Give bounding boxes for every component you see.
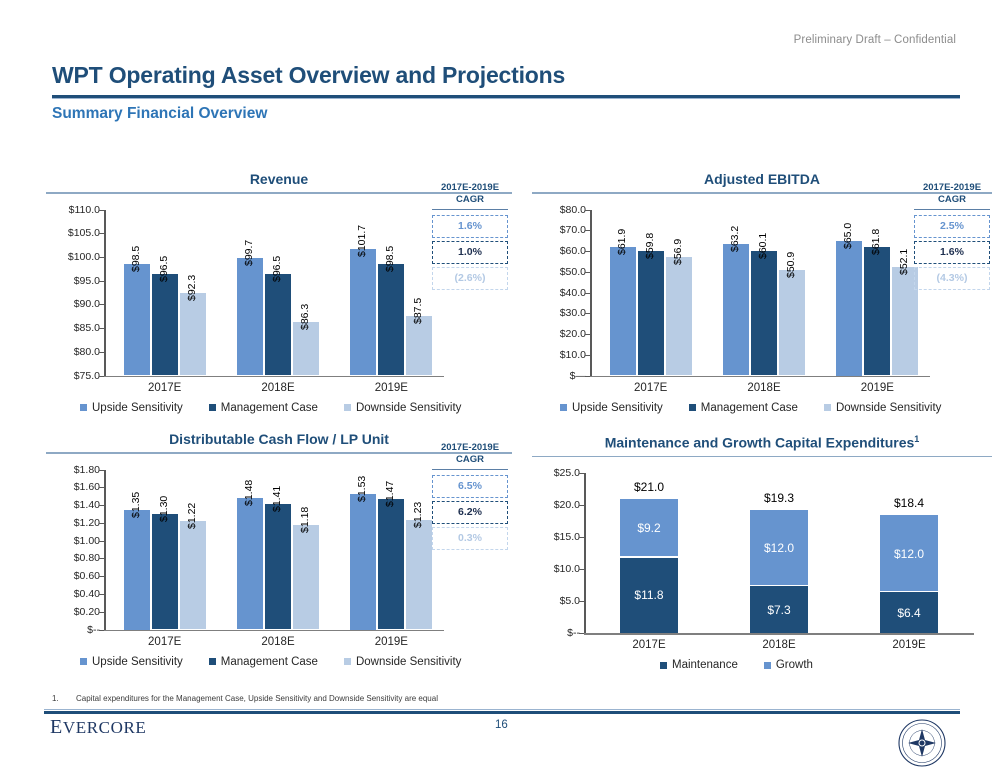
- plot-area-revenue: $110.0$105.0$100.0$95.0$90.0$85.0$80.0$7…: [46, 194, 512, 404]
- bar-dcf-2017E-management-case: [152, 514, 178, 630]
- bar-revenue-2018E-upside-sensitivity: [237, 258, 263, 375]
- legend-item-downside[interactable]: Downside Sensitivity: [824, 402, 941, 414]
- cagr-heading: 2017E-2019ECAGR: [432, 182, 508, 206]
- bar-value-label: $1.47: [384, 481, 396, 507]
- cagr-value-upside: 1.6%: [432, 215, 508, 238]
- y-axis-tick-label: $100.0: [68, 251, 100, 263]
- cagr-value-downside: 0.3%: [432, 527, 508, 550]
- legend-swatch-icon: [80, 404, 87, 411]
- bar-ebitda-2018E-upside-sensitivity: [723, 244, 749, 375]
- y-axis-tick-label: $75.0: [74, 370, 100, 382]
- bar-dcf-2017E-downside-sensitivity: [180, 521, 206, 629]
- cagr-divider: [432, 469, 508, 470]
- y-axis-tick-label: $0.80: [74, 552, 100, 564]
- legend-item-upside[interactable]: Upside Sensitivity: [80, 656, 183, 668]
- y-axis-tick-label: $30.0: [560, 307, 586, 319]
- bar-value-label: $1.18: [299, 506, 311, 532]
- page-number: 16: [495, 719, 508, 731]
- bar-value-label: $101.7: [356, 225, 368, 257]
- page-subtitle: Summary Financial Overview: [52, 105, 267, 123]
- y-axis-line: [104, 470, 106, 630]
- bar-value-label: $1.35: [130, 491, 142, 517]
- legend-swatch-icon: [209, 658, 216, 665]
- bar-dcf-2018E-upside-sensitivity: [237, 498, 263, 630]
- x-axis-line: [104, 630, 444, 632]
- bar-value-label: $92.3: [186, 275, 198, 301]
- chart-legend: Upside SensitivityManagement CaseDownsid…: [80, 402, 461, 414]
- cagr-heading-metric: CAGR: [432, 194, 508, 206]
- legend-label: Downside Sensitivity: [356, 656, 461, 668]
- page-title: WPT Operating Asset Overview and Project…: [52, 62, 565, 89]
- bar-value-label: $87.5: [412, 298, 424, 324]
- cagr-panel: 2017E-2019ECAGR1.6%1.0%(2.6%): [432, 182, 508, 293]
- bar-value-label: $99.7: [243, 240, 255, 266]
- cagr-heading: 2017E-2019ECAGR: [432, 442, 508, 466]
- plot-area-distributable-cash-flow: $1.80$1.60$1.40$1.20$1.00$0.80$0.60$0.40…: [46, 454, 512, 654]
- bar-ebitda-2018E-management-case: [751, 251, 777, 376]
- chart-capital-expenditures: Maintenance and Growth Capital Expenditu…: [532, 430, 992, 680]
- bar-ebitda-2017E-management-case: [638, 251, 664, 375]
- chart-title-text: Maintenance and Growth Capital Expenditu…: [605, 435, 915, 451]
- footnote-number: 1.: [52, 694, 62, 703]
- x-axis-category-label: 2017E: [634, 382, 667, 394]
- bar-value-label: $50.9: [785, 252, 797, 278]
- x-axis-line: [104, 376, 444, 378]
- bar-value-label: $60.1: [757, 233, 769, 259]
- cagr-panel: 2017E-2019ECAGR6.5%6.2%0.3%: [432, 442, 508, 553]
- x-axis-category-label: 2018E: [261, 382, 294, 394]
- x-axis-category-label: 2019E: [892, 639, 925, 651]
- bar-ebitda-2017E-downside-sensitivity: [666, 257, 692, 375]
- y-axis-tick-label: $80.0: [560, 204, 586, 216]
- stack-total-label: $19.3: [764, 491, 794, 505]
- x-axis-line: [590, 376, 930, 378]
- stack-total-label: $21.0: [634, 480, 664, 494]
- x-axis-category-label: 2018E: [747, 382, 780, 394]
- y-axis-tick-label: $5.0: [560, 595, 580, 607]
- slide: Preliminary Draft – Confidential WPT Ope…: [0, 0, 1000, 774]
- legend-label: Maintenance: [672, 659, 738, 671]
- cagr-heading-metric: CAGR: [432, 454, 508, 466]
- y-axis-tick-label: $40.0: [560, 287, 586, 299]
- chart-legend: MaintenanceGrowth: [660, 659, 813, 671]
- plot-area-adjusted-ebitda: $80.0$70.0$60.0$50.0$40.0$30.0$20.0$10.0…: [532, 194, 992, 404]
- y-axis-tick-label: $95.0: [74, 275, 100, 287]
- bar-dcf-2019E-management-case: [378, 499, 404, 630]
- cagr-heading: 2017E-2019ECAGR: [914, 182, 990, 206]
- y-axis-tick-label: $10.0: [554, 563, 580, 575]
- y-axis-line: [590, 210, 592, 376]
- bar-revenue-2019E-downside-sensitivity: [406, 316, 432, 375]
- cagr-heading-period: 2017E-2019E: [432, 182, 508, 194]
- y-axis-tick-label: $10.0: [560, 349, 586, 361]
- x-axis-category-label: 2017E: [632, 639, 665, 651]
- cagr-value-management: 6.2%: [432, 501, 508, 524]
- y-axis-line: [104, 210, 106, 376]
- chart-revenue: Revenue $110.0$105.0$100.0$95.0$90.0$85.…: [46, 170, 512, 420]
- x-axis-line: [584, 633, 974, 635]
- chart-legend: Upside SensitivityManagement CaseDownsid…: [80, 656, 461, 668]
- cagr-panel: 2017E-2019ECAGR2.5%1.6%(4.3%): [914, 182, 990, 293]
- stack-value-label-growth: $12.0: [894, 547, 924, 561]
- legend-label: Growth: [776, 659, 813, 671]
- y-axis-line: [584, 473, 586, 633]
- stack-value-label-maintenance: $7.3: [767, 603, 790, 617]
- footnote-ref-superscript: 1: [914, 434, 919, 444]
- y-axis-tick-label: $1.60: [74, 481, 100, 493]
- bar-value-label: $98.5: [384, 246, 396, 272]
- x-axis-category-label: 2017E: [148, 382, 181, 394]
- y-axis-tick-label: $90.0: [74, 298, 100, 310]
- legend-item-downside[interactable]: Downside Sensitivity: [344, 656, 461, 668]
- x-axis-category-label: 2019E: [375, 382, 408, 394]
- legend-swatch-icon: [689, 404, 696, 411]
- y-axis-tick-label: $—: [570, 370, 586, 382]
- legend-item-downside[interactable]: Downside Sensitivity: [344, 402, 461, 414]
- bar-ebitda-2019E-upside-sensitivity: [836, 241, 862, 376]
- y-axis-tick-label: $20.0: [554, 499, 580, 511]
- footnote-text: Capital expenditures for the Management …: [76, 694, 438, 703]
- bar-value-label: $63.2: [729, 226, 741, 252]
- bar-value-label: $59.8: [644, 233, 656, 259]
- plot-area-capital-expenditures: $25.0$20.0$15.0$10.0$5.0$--$11.8$9.2$21.…: [532, 457, 992, 657]
- legend-swatch-icon: [764, 662, 771, 669]
- bar-dcf-2018E-downside-sensitivity: [293, 525, 319, 630]
- legend-item-upside[interactable]: Upside Sensitivity: [560, 402, 663, 414]
- legend-label: Management Case: [701, 402, 798, 414]
- stack-total-label: $18.4: [894, 496, 924, 510]
- cagr-divider: [914, 209, 990, 210]
- legend-label: Management Case: [221, 656, 318, 668]
- x-axis-category-label: 2018E: [762, 639, 795, 651]
- stack-value-label-maintenance: $6.4: [897, 606, 920, 620]
- cagr-heading-period: 2017E-2019E: [432, 442, 508, 454]
- bar-value-label: $1.23: [412, 502, 424, 528]
- bar-value-label: $56.9: [672, 239, 684, 265]
- cagr-heading-period: 2017E-2019E: [914, 182, 990, 194]
- bar-value-label: $61.8: [870, 229, 882, 255]
- cagr-value-downside: (2.6%): [432, 267, 508, 290]
- legend-label: Downside Sensitivity: [356, 402, 461, 414]
- bar-dcf-2019E-upside-sensitivity: [350, 494, 376, 630]
- cagr-heading-metric: CAGR: [914, 194, 990, 206]
- stack-value-label-growth: $12.0: [764, 541, 794, 555]
- bar-ebitda-2019E-management-case: [864, 247, 890, 375]
- bar-value-label: $86.3: [299, 304, 311, 330]
- y-axis-tick-label: $50.0: [560, 266, 586, 278]
- legend-label: Upside Sensitivity: [572, 402, 663, 414]
- bar-value-label: $96.5: [271, 255, 283, 281]
- x-axis-category-label: 2018E: [261, 636, 294, 648]
- chart-legend: Upside SensitivityManagement CaseDownsid…: [560, 402, 941, 414]
- bar-value-label: $61.9: [616, 229, 628, 255]
- legend-item-growth[interactable]: Growth: [764, 659, 813, 671]
- cagr-value-upside: 2.5%: [914, 215, 990, 238]
- bar-value-label: $1.48: [243, 480, 255, 506]
- cagr-value-management: 1.6%: [914, 241, 990, 264]
- legend-label: Downside Sensitivity: [836, 402, 941, 414]
- cagr-divider: [432, 209, 508, 210]
- chart-title-capital-expenditures: Maintenance and Growth Capital Expenditu…: [532, 430, 992, 452]
- x-axis-category-label: 2019E: [375, 636, 408, 648]
- title-divider: [52, 95, 960, 98]
- y-axis-tick-label: $80.0: [74, 346, 100, 358]
- y-axis-tick-label: $105.0: [68, 227, 100, 239]
- legend-item-management[interactable]: Management Case: [209, 656, 318, 668]
- legend-item-maintenance[interactable]: Maintenance: [660, 659, 738, 671]
- y-axis-tick-label: $0.40: [74, 588, 100, 600]
- bar-dcf-2019E-downside-sensitivity: [406, 520, 432, 629]
- bar-ebitda-2017E-upside-sensitivity: [610, 247, 636, 375]
- bar-value-label: $1.30: [158, 496, 170, 522]
- stack-value-label-growth: $9.2: [637, 521, 660, 535]
- y-axis-tick-label: $0.20: [74, 606, 100, 618]
- bar-value-label: $96.5: [158, 255, 170, 281]
- bar-value-label: $1.22: [186, 503, 198, 529]
- legend-label: Upside Sensitivity: [92, 402, 183, 414]
- bar-value-label: $1.53: [356, 475, 368, 501]
- bar-dcf-2017E-upside-sensitivity: [124, 510, 150, 630]
- world-point-terminals-logo-icon: [896, 718, 948, 768]
- legend-item-upside[interactable]: Upside Sensitivity: [80, 402, 183, 414]
- legend-swatch-icon: [344, 658, 351, 665]
- stack-value-label-maintenance: $11.8: [634, 588, 663, 602]
- evercore-logo: EVERCORE: [50, 716, 146, 739]
- bar-value-label: $98.5: [130, 246, 142, 272]
- y-axis-tick-label: $0.60: [74, 570, 100, 582]
- x-axis-category-label: 2019E: [861, 382, 894, 394]
- y-axis-tick-label: $1.20: [74, 517, 100, 529]
- y-axis-tick-label: $110.0: [69, 204, 100, 216]
- chart-distributable-cash-flow: Distributable Cash Flow / LP Unit $1.80$…: [46, 430, 512, 680]
- footer-divider: [44, 711, 960, 714]
- cagr-value-management: 1.0%: [432, 241, 508, 264]
- bar-revenue-2017E-downside-sensitivity: [180, 293, 206, 375]
- bar-value-label: $52.1: [898, 249, 910, 275]
- legend-item-management[interactable]: Management Case: [209, 402, 318, 414]
- y-axis-tick-label: $1.40: [74, 499, 100, 511]
- y-axis-tick-label: $20.0: [560, 328, 586, 340]
- legend-swatch-icon: [344, 404, 351, 411]
- y-axis-tick-label: $85.0: [74, 322, 100, 334]
- x-axis-category-label: 2017E: [148, 636, 181, 648]
- bar-value-label: $65.0: [842, 222, 854, 248]
- y-axis-tick-label: $1.80: [74, 464, 100, 476]
- bar-revenue-2019E-management-case: [378, 264, 404, 375]
- footnote: 1. Capital expenditures for the Manageme…: [52, 694, 438, 703]
- legend-swatch-icon: [209, 404, 216, 411]
- legend-swatch-icon: [824, 404, 831, 411]
- legend-swatch-icon: [660, 662, 667, 669]
- chart-adjusted-ebitda: Adjusted EBITDA $80.0$70.0$60.0$50.0$40.…: [532, 170, 992, 420]
- legend-item-management[interactable]: Management Case: [689, 402, 798, 414]
- cagr-value-upside: 6.5%: [432, 475, 508, 498]
- cagr-value-downside: (4.3%): [914, 267, 990, 290]
- y-axis-tick-label: $1.00: [74, 535, 100, 547]
- bar-value-label: $1.41: [271, 486, 283, 512]
- y-axis-tick-label: $70.0: [560, 224, 586, 236]
- bar-revenue-2018E-management-case: [265, 274, 291, 376]
- bar-revenue-2017E-management-case: [152, 274, 178, 376]
- legend-label: Management Case: [221, 402, 318, 414]
- legend-swatch-icon: [80, 658, 87, 665]
- bar-revenue-2017E-upside-sensitivity: [124, 264, 150, 375]
- bar-revenue-2019E-upside-sensitivity: [350, 249, 376, 376]
- confidential-marking: Preliminary Draft – Confidential: [794, 34, 956, 46]
- y-axis-tick-label: $60.0: [560, 245, 586, 257]
- y-axis-tick-label: $25.0: [554, 467, 580, 479]
- bar-ebitda-2018E-downside-sensitivity: [779, 270, 805, 376]
- bar-dcf-2018E-management-case: [265, 504, 291, 629]
- y-axis-tick-label: $15.0: [554, 531, 580, 543]
- legend-swatch-icon: [560, 404, 567, 411]
- legend-label: Upside Sensitivity: [92, 656, 183, 668]
